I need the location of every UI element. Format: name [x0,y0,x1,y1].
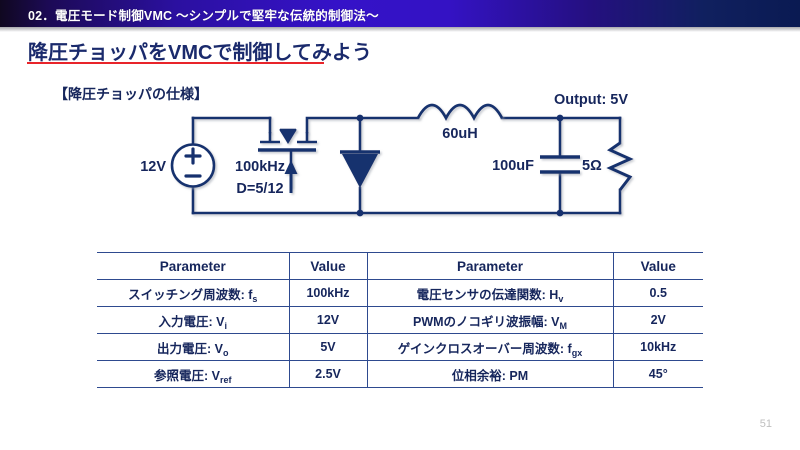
column-header-value-right: Value [613,253,703,280]
cell-param-left-subscript: i [224,321,227,331]
inductor-symbol [418,105,502,118]
switching-frequency-label: 100kHz [235,159,285,175]
column-header-parameter-right: Parameter [367,253,613,280]
circuit-labels: 12V 100kHz D=5/12 60uH 100uF 5Ω Output: … [140,92,628,197]
cell-param-left-subscript: s [252,294,257,304]
cell-param-right: PWMのノコギリ波振幅: VM [367,307,613,334]
source-voltage-label: 12V [140,159,166,175]
cell-param-right-text: 電圧センサの伝達関数: H [417,288,559,302]
gate-drive-arrow-icon [285,160,298,193]
slide-canvas: 02．電圧モード制御VMC ～シンプルで堅牢な伝統的制御法～ 降圧チョッパをVM… [0,0,800,450]
load-resistor-label: 5Ω [582,158,602,174]
output-label: Output: 5V [554,92,628,108]
cell-value-left: 12V [289,307,367,334]
cell-value-left: 5V [289,334,367,361]
cell-param-right-text: PWMのノコギリ波振幅: V [413,315,560,329]
table-row: 参照電圧: Vref 2.5V 位相余裕: PM 45° [97,361,703,388]
cell-param-left-text: 入力電圧: V [159,315,225,329]
cell-param-left: スイッチング周波数: fs [97,280,289,307]
cell-param-right: ゲインクロスオーバー周波数: fgx [367,334,613,361]
cell-value-left: 100kHz [289,280,367,307]
cell-param-left: 出力電圧: Vo [97,334,289,361]
mosfet-body-diode-icon [280,130,296,143]
cell-param-left-text: スイッチング周波数: f [128,288,252,302]
cell-param-right-subscript: v [558,294,563,304]
table-row: スイッチング周波数: fs 100kHz 電圧センサの伝達関数: Hv 0.5 [97,280,703,307]
cell-param-left: 参照電圧: Vref [97,361,289,388]
cell-param-right: 電圧センサの伝達関数: Hv [367,280,613,307]
cell-param-right-subscript: M [560,321,568,331]
cell-param-left-subscript: ref [220,375,232,385]
cell-param-left: 入力電圧: Vi [97,307,289,334]
cell-param-right: 位相余裕: PM [367,361,613,388]
buck-converter-circuit-diagram: 12V 100kHz D=5/12 60uH 100uF 5Ω Output: … [110,88,670,233]
page-title: 降圧チョッパをVMCで制御してみよう [28,36,372,65]
cell-param-left-subscript: o [223,348,229,358]
cell-param-left-text: 参照電圧: V [154,369,220,383]
load-resistor-symbol [610,143,630,190]
table-body: Parameter Value Parameter Value スイッチング周波… [97,253,703,388]
duty-ratio-label: D=5/12 [236,181,283,197]
capacitor-symbol [540,157,580,172]
column-header-parameter-left: Parameter [97,253,289,280]
cell-value-right: 45° [613,361,703,388]
inductor-label: 60uH [442,126,477,142]
cell-param-right-text: 位相余裕: PM [452,369,528,383]
page-number: 51 [760,418,772,430]
cell-value-right: 2V [613,307,703,334]
cell-value-right: 0.5 [613,280,703,307]
cell-param-right-subscript: gx [572,348,583,358]
cell-value-left: 2.5V [289,361,367,388]
specification-table: Parameter Value Parameter Value スイッチング周波… [97,252,703,388]
header-shadow [0,27,800,32]
cell-param-left-text: 出力電圧: V [157,342,223,356]
header-section-label: 02．電圧モード制御VMC ～シンプルで堅牢な伝統的制御法～ [28,5,379,24]
cell-value-right: 10kHz [613,334,703,361]
table-row: 入力電圧: Vi 12V PWMのノコギリ波振幅: VM 2V [97,307,703,334]
column-header-value-left: Value [289,253,367,280]
cell-param-right-text: ゲインクロスオーバー周波数: f [398,342,572,356]
freewheel-diode-symbol [340,152,380,188]
title-underline [27,62,324,64]
capacitor-label: 100uF [492,158,534,174]
table-row: 出力電圧: Vo 5V ゲインクロスオーバー周波数: fgx 10kHz [97,334,703,361]
table-header-row: Parameter Value Parameter Value [97,253,703,280]
